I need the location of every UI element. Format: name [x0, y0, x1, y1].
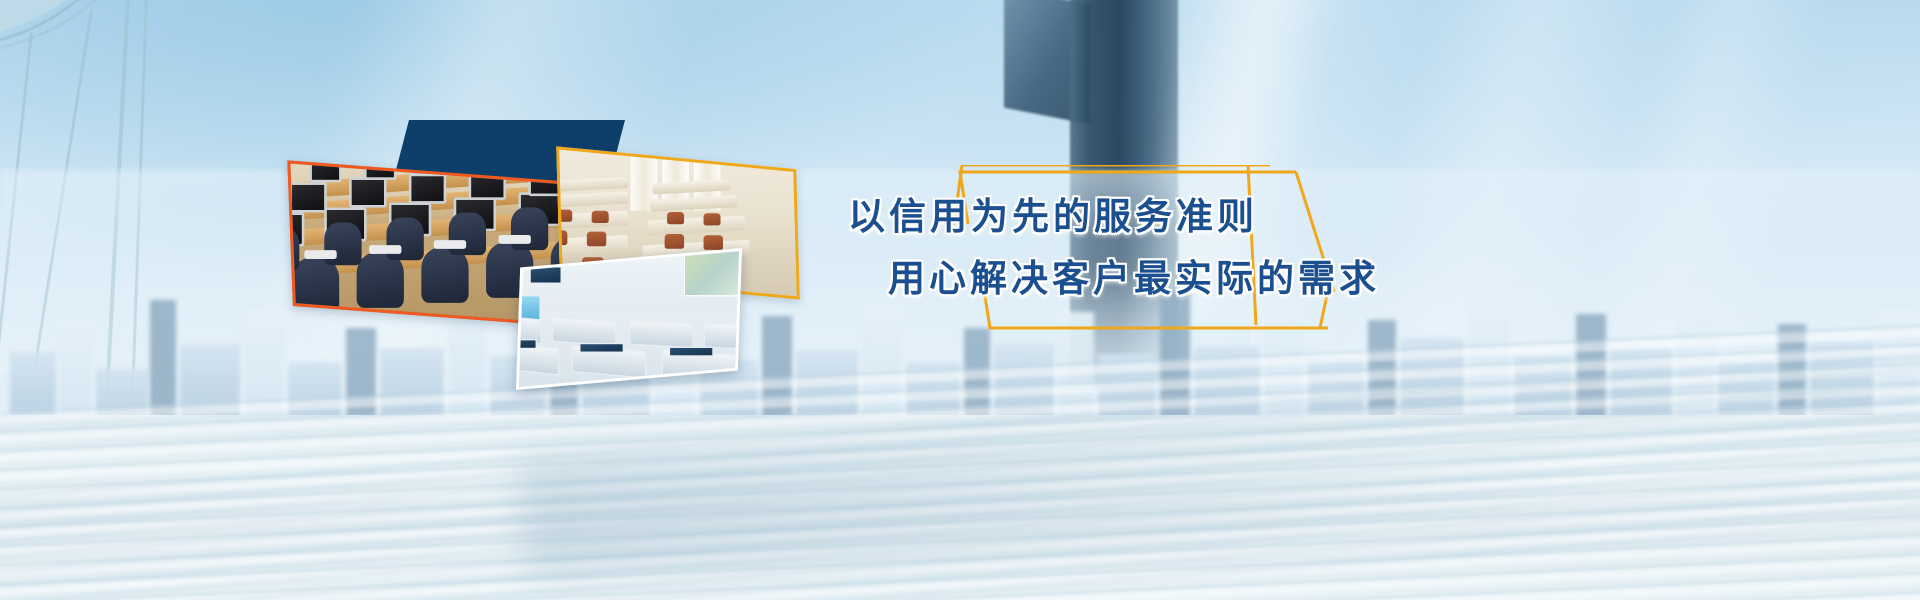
headline-line-2: 用心解决客户最实际的需求	[888, 252, 1390, 306]
control-room-photo[interactable]	[516, 248, 742, 390]
headline-line-1: 以信用为先的服务准则	[848, 190, 1390, 244]
control-room-photo-content	[516, 248, 742, 390]
photo-collage	[280, 100, 840, 400]
service-banner: 以信用为先的服务准则 用心解决客户最实际的需求	[0, 0, 1920, 600]
headline-block: 以信用为先的服务准则 用心解决客户最实际的需求	[830, 190, 1390, 305]
